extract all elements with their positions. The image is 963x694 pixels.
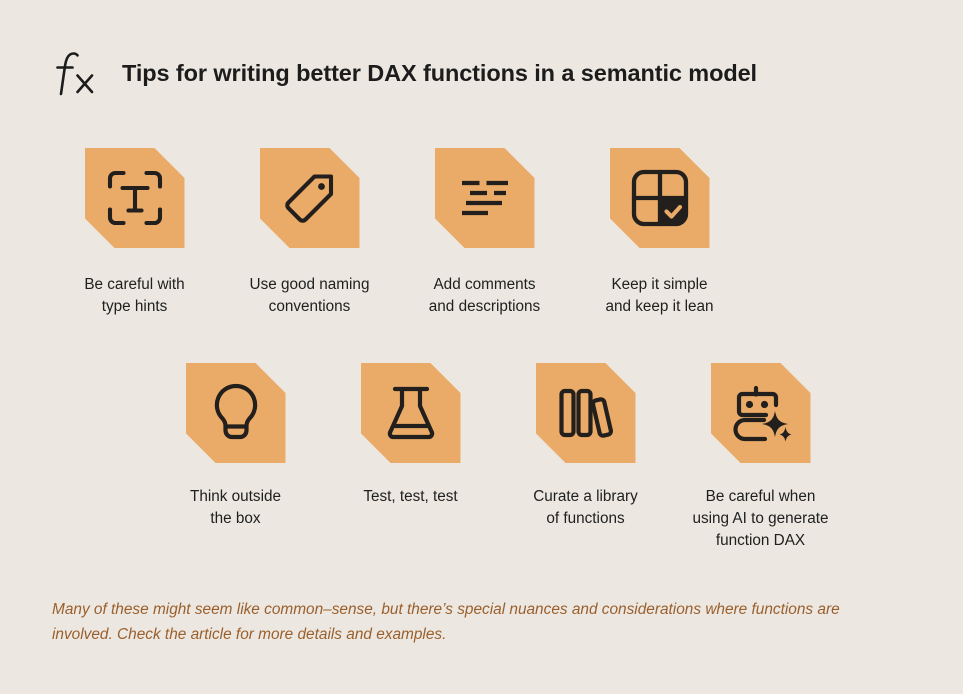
tip-tile xyxy=(85,148,185,248)
tips-row-2: Think outsidethe box Test, test, test xyxy=(148,363,963,553)
books-library-icon xyxy=(556,382,616,444)
tip-type-hints: Be careful withtype hints xyxy=(47,148,222,318)
tip-comments-descriptions: Add commentsand descriptions xyxy=(397,148,572,318)
footnote: Many of these might seem like common–sen… xyxy=(52,598,900,648)
tip-naming-conventions: Use good namingconventions xyxy=(222,148,397,318)
type-text-icon xyxy=(104,167,166,229)
tip-label: Add commentsand descriptions xyxy=(429,274,540,318)
tip-curate-library: Curate a libraryof functions xyxy=(498,363,673,553)
tip-label: Keep it simpleand keep it lean xyxy=(605,274,713,318)
infographic-canvas: Tips for writing better DAX functions in… xyxy=(0,0,963,694)
tag-icon xyxy=(279,167,341,229)
robot-sparkle-icon xyxy=(730,383,792,443)
tip-tile xyxy=(260,148,360,248)
tips-row-1: Be careful withtype hints Use good namin… xyxy=(47,148,892,318)
header: Tips for writing better DAX functions in… xyxy=(52,50,757,98)
page-title: Tips for writing better DAX functions in… xyxy=(122,61,757,87)
text-lines-icon xyxy=(454,167,516,229)
tip-tile xyxy=(610,148,710,248)
tip-tile xyxy=(186,363,286,463)
tip-keep-it-simple: Keep it simpleand keep it lean xyxy=(572,148,747,318)
tip-label: Curate a libraryof functions xyxy=(533,486,638,530)
tip-label: Think outsidethe box xyxy=(190,486,281,530)
lightbulb-icon xyxy=(206,382,266,444)
grid-check-icon xyxy=(630,168,690,228)
tip-think-outside-box: Think outsidethe box xyxy=(148,363,323,553)
tip-label: Be careful whenusing AI to generatefunct… xyxy=(692,486,828,553)
tip-tile xyxy=(435,148,535,248)
fx-function-icon xyxy=(52,50,96,98)
tip-ai-generated-dax: Be careful whenusing AI to generatefunct… xyxy=(673,363,848,553)
tip-tile xyxy=(361,363,461,463)
tip-label: Be careful withtype hints xyxy=(84,274,184,318)
tip-label: Test, test, test xyxy=(363,486,457,508)
tip-tile xyxy=(536,363,636,463)
tip-label: Use good namingconventions xyxy=(250,274,370,318)
flask-icon xyxy=(381,382,441,444)
tip-test-test-test: Test, test, test xyxy=(323,363,498,553)
tip-tile xyxy=(711,363,811,463)
